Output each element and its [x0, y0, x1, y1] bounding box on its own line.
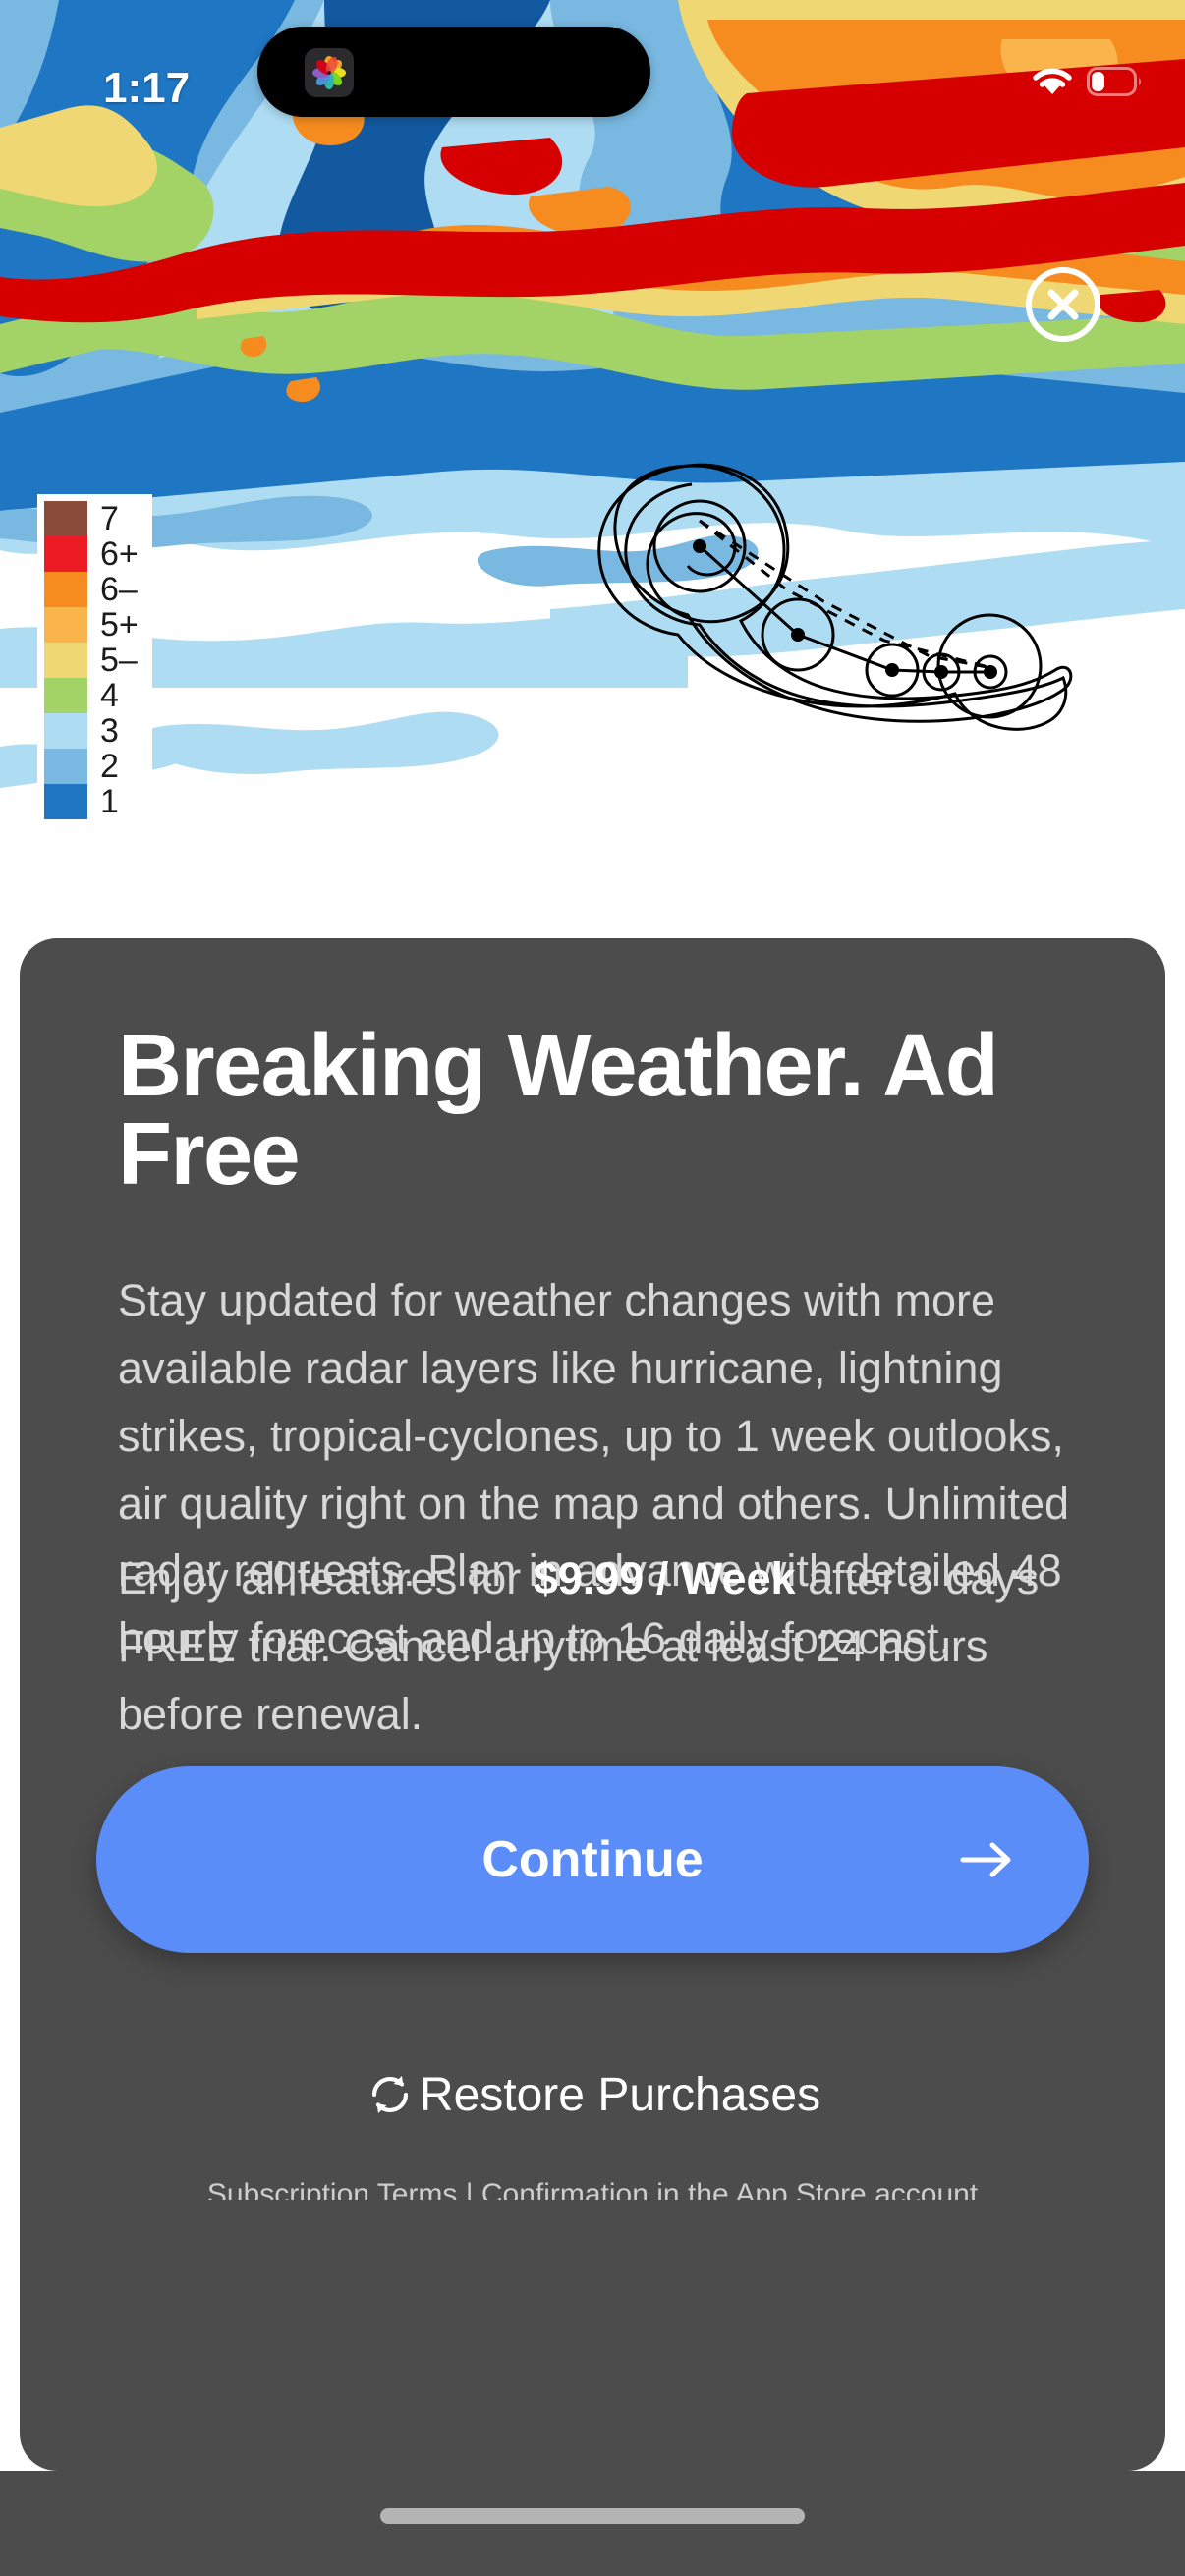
legal-links-row[interactable]: Subscription Terms | Confirmation in the… [67, 2178, 1118, 2200]
legend-label-column: 76+6–5+5–4321 [100, 501, 139, 819]
legend-label: 5– [100, 643, 139, 678]
legend-swatch [44, 784, 87, 819]
legend-label: 2 [100, 749, 139, 784]
page-title: Breaking Weather. Ad Free [118, 1022, 1081, 1199]
legend-swatch [44, 607, 87, 643]
legend-swatch [44, 713, 87, 749]
legend-label: 4 [100, 678, 139, 713]
continue-button[interactable]: Continue [96, 1766, 1089, 1953]
legend-swatch [44, 572, 87, 607]
legend-swatch [44, 643, 87, 678]
legend-label: 1 [100, 784, 139, 819]
legend-label: 6– [100, 572, 139, 607]
legend-label: 7 [100, 501, 139, 536]
restore-refresh-icon [365, 2069, 416, 2120]
photos-app-icon[interactable] [305, 48, 354, 97]
radar-intensity-legend: 76+6–5+5–4321 [37, 494, 152, 826]
home-indicator[interactable] [380, 2508, 805, 2524]
paywall-card: Breaking Weather. Ad Free Stay updated f… [20, 938, 1165, 2471]
app-screen: 76+6–5+5–4321 1:17 [0, 0, 1185, 2576]
legend-swatch-column [44, 501, 87, 819]
status-bar-clock: 1:17 [103, 64, 260, 113]
legend-swatch [44, 536, 87, 572]
price-prefix: Enjoy all features for [118, 1553, 534, 1603]
price-amount: $9.99 / Week [534, 1553, 796, 1603]
restore-purchases-button[interactable]: Restore Purchases [20, 2060, 1165, 2129]
legend-label: 3 [100, 713, 139, 749]
battery-icon [1087, 67, 1144, 101]
legend-swatch [44, 501, 87, 536]
restore-purchases-label: Restore Purchases [420, 2068, 820, 2122]
paywall-price-text: Enjoy all features for $9.99 / Week afte… [118, 1545, 1091, 1749]
status-bar: 1:17 [0, 0, 1185, 147]
dynamic-island[interactable] [257, 27, 650, 117]
wifi-icon [1028, 61, 1077, 103]
close-icon[interactable] [1024, 265, 1102, 344]
legend-label: 6+ [100, 536, 139, 572]
continue-button-label: Continue [96, 1766, 1089, 1953]
legend-label: 5+ [100, 607, 139, 643]
arrow-right-icon [959, 1838, 1016, 1886]
legend-swatch [44, 749, 87, 784]
legend-swatch [44, 678, 87, 713]
